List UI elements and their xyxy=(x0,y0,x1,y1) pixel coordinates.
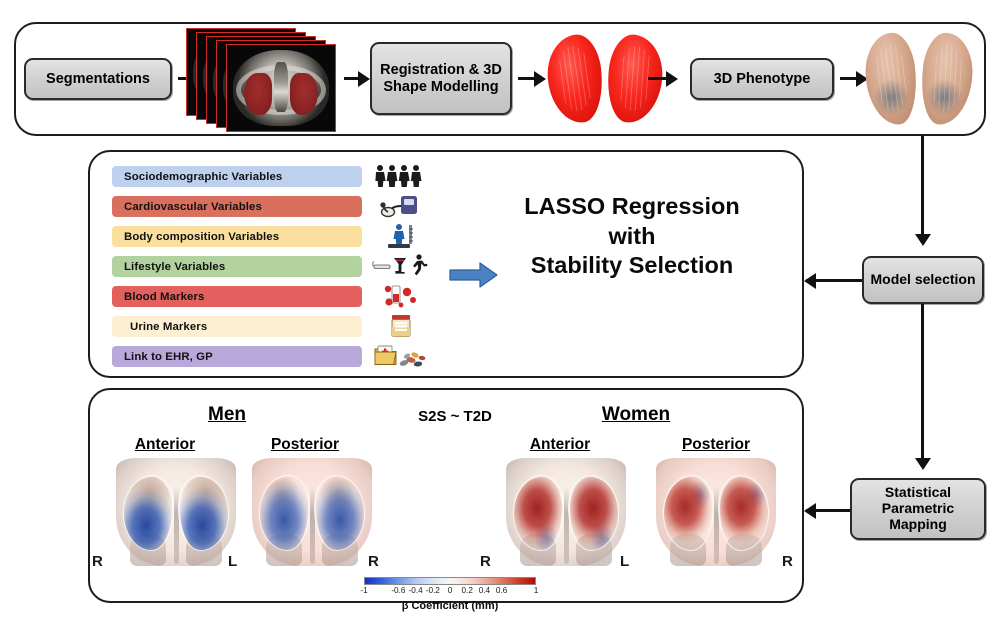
statistical-parametric-mapping-box[interactable]: Statistical Parametric Mapping xyxy=(850,478,986,540)
variable-chip-cardiovascular[interactable]: Cardiovascular Variables xyxy=(112,196,362,217)
blood-pressure-monitor-icon xyxy=(372,193,430,219)
orientation-mark-l: L xyxy=(620,553,629,570)
colorbar-tick: 0.4 xyxy=(479,586,490,595)
variable-chip-label: Body composition Variables xyxy=(124,231,279,243)
model-selection-label: Model selection xyxy=(870,272,975,288)
variable-chip-label: Lifestyle Variables xyxy=(124,261,225,273)
spm-map-women-anterior xyxy=(502,458,630,566)
colorbar-tick: -0.4 xyxy=(409,586,423,595)
orientation-mark-r: R xyxy=(782,553,793,570)
orientation-mark-l: L xyxy=(228,553,237,570)
variables-panel: Sociodemographic Variables Cardiovascula… xyxy=(88,150,804,378)
spm-map-men-anterior xyxy=(112,458,240,566)
colorbar-tick: 1 xyxy=(534,586,539,595)
variable-chip-blood-markers[interactable]: Blood Markers xyxy=(112,286,362,307)
arrow-mesh-to-phen-head xyxy=(666,71,678,87)
orientation-mark-r: R xyxy=(92,553,103,570)
textured-3d-phenotype-mesh xyxy=(866,30,978,128)
registration-3d-shape-modelling-box[interactable]: Registration & 3D Shape Modelling xyxy=(370,42,512,115)
variable-chip-label: Blood Markers xyxy=(124,291,204,303)
connector-spm-to-results-head xyxy=(804,503,816,519)
lasso-line-1: LASSO Regression xyxy=(476,192,788,222)
variable-chip-link-ehr-gp[interactable]: Link to EHR, GP xyxy=(112,346,362,367)
connector-acquisition-to-model-head xyxy=(915,234,931,246)
segmentations-box[interactable]: Segmentations xyxy=(24,58,172,100)
variable-chip-body-composition[interactable]: Body composition Variables xyxy=(112,226,362,247)
variable-chip-label: Sociodemographic Variables xyxy=(124,171,282,183)
variable-chip-sociodemographic[interactable]: Sociodemographic Variables xyxy=(112,166,362,187)
spm-map-women-posterior xyxy=(652,458,780,566)
spm-map-men-posterior xyxy=(248,458,376,566)
view-label-men-anterior: Anterior xyxy=(110,436,220,454)
model-formula-label: S2S ~ T2D xyxy=(380,408,530,425)
connector-model-to-spm-line xyxy=(921,304,924,460)
registration-label: Registration & 3D Shape Modelling xyxy=(372,62,510,94)
mri-slice-stack xyxy=(186,28,336,130)
segmentations-label: Segmentations xyxy=(46,71,150,87)
orientation-mark-r: R xyxy=(368,553,379,570)
body-scale-icon xyxy=(372,223,430,249)
colorbar-caption: β Coefficient (mm) xyxy=(364,600,536,612)
view-label-women-anterior: Anterior xyxy=(505,436,615,454)
people-group-icon xyxy=(372,163,430,189)
arrow-mri-to-reg-head xyxy=(358,71,370,87)
lasso-line-2: with xyxy=(476,222,788,252)
variable-chip-label: Urine Markers xyxy=(130,321,207,333)
variable-chip-label: Cardiovascular Variables xyxy=(124,201,262,213)
connector-model-to-variables-head xyxy=(804,273,816,289)
urine-sample-icon xyxy=(372,313,430,339)
3d-phenotype-box[interactable]: 3D Phenotype xyxy=(690,58,834,100)
colorbar-tick: -1 xyxy=(360,586,367,595)
colorbar-tick-labels: -1-0.6-0.4-0.200.20.40.61 xyxy=(364,586,536,599)
variable-chip-lifestyle[interactable]: Lifestyle Variables xyxy=(112,256,362,277)
lasso-line-3: Stability Selection xyxy=(476,251,788,281)
group-label-men: Men xyxy=(182,404,272,426)
variable-chip-urine-markers[interactable]: Urine Markers xyxy=(112,316,362,337)
colorbar-tick: -0.6 xyxy=(391,586,405,595)
lifestyle-icon xyxy=(372,253,430,279)
connector-acquisition-to-model-line xyxy=(921,136,924,236)
colorbar-tick: 0 xyxy=(448,586,453,595)
orientation-mark-r: R xyxy=(480,553,491,570)
variable-chip-label: Link to EHR, GP xyxy=(124,351,213,363)
view-label-men-posterior: Posterior xyxy=(250,436,360,454)
lasso-regression-title: LASSO Regression with Stability Selectio… xyxy=(476,192,788,281)
workflow-diagram: Segmentations Registration & 3D Shape Mo… xyxy=(0,0,1000,619)
connector-model-to-spm-head xyxy=(915,458,931,470)
phenotype-label: 3D Phenotype xyxy=(714,71,811,87)
colorbar-tick: -0.2 xyxy=(426,586,440,595)
blood-drop-icon xyxy=(372,283,430,309)
medical-records-icon xyxy=(372,343,430,369)
view-label-women-posterior: Posterior xyxy=(660,436,772,454)
model-selection-box[interactable]: Model selection xyxy=(862,256,984,304)
colorbar-tick: 0.6 xyxy=(496,586,507,595)
colorbar-gradient xyxy=(364,577,536,585)
colorbar-tick: 0.2 xyxy=(461,586,472,595)
spm-label: Statistical Parametric Mapping xyxy=(852,485,984,532)
colorbar: -1-0.6-0.4-0.200.20.40.61 β Coefficient … xyxy=(364,577,536,612)
arrow-reg-to-mesh-head xyxy=(534,71,546,87)
group-label-women: Women xyxy=(580,404,692,426)
